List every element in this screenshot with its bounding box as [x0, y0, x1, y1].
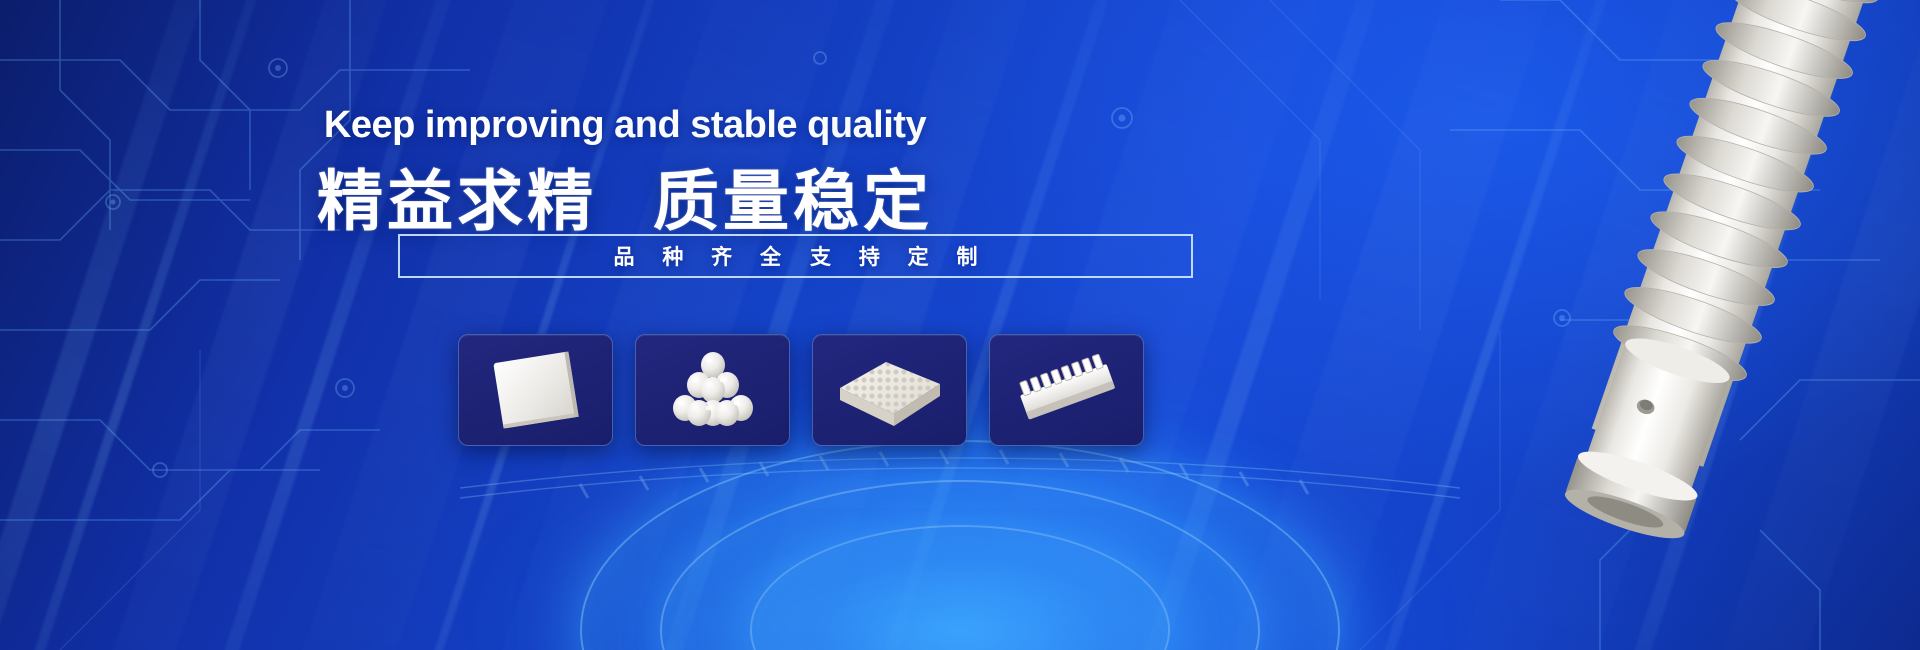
subtitle-text: 品 种 齐 全支 持 定 制	[602, 241, 988, 271]
subtitle-right: 支 持 定 制	[810, 246, 989, 269]
honeycomb-ceramic-block-icon	[828, 344, 952, 436]
subtitle-box: 品 种 齐 全支 持 定 制	[398, 234, 1193, 278]
product-card-ribbed-plate[interactable]	[989, 334, 1144, 446]
headline-left: 精益求精	[317, 164, 597, 238]
english-tagline-light: and stable quality	[604, 104, 926, 146]
page-title: 精益求精质量稳定	[0, 148, 1250, 244]
english-tagline-bold: Keep improving	[324, 104, 604, 146]
banner-content: Keep improving and stable quality 精益求精质量…	[0, 0, 1250, 650]
subtitle-left: 品 种 齐 全	[613, 246, 792, 269]
product-card-honeycomb-block[interactable]	[812, 334, 967, 446]
promo-banner: Keep improving and stable quality 精益求精质量…	[0, 0, 1920, 650]
ceramic-square-plate-icon	[476, 345, 596, 435]
headline-right: 质量稳定	[653, 164, 933, 238]
ribbed-ceramic-plate-icon	[1007, 345, 1127, 435]
ceramic-ball-pyramid-icon	[653, 345, 773, 435]
english-tagline: Keep improving and stable quality	[0, 104, 1250, 147]
product-card-ceramic-plate[interactable]	[458, 334, 613, 446]
product-card-list	[458, 334, 1144, 446]
product-card-ceramic-balls[interactable]	[635, 334, 790, 446]
